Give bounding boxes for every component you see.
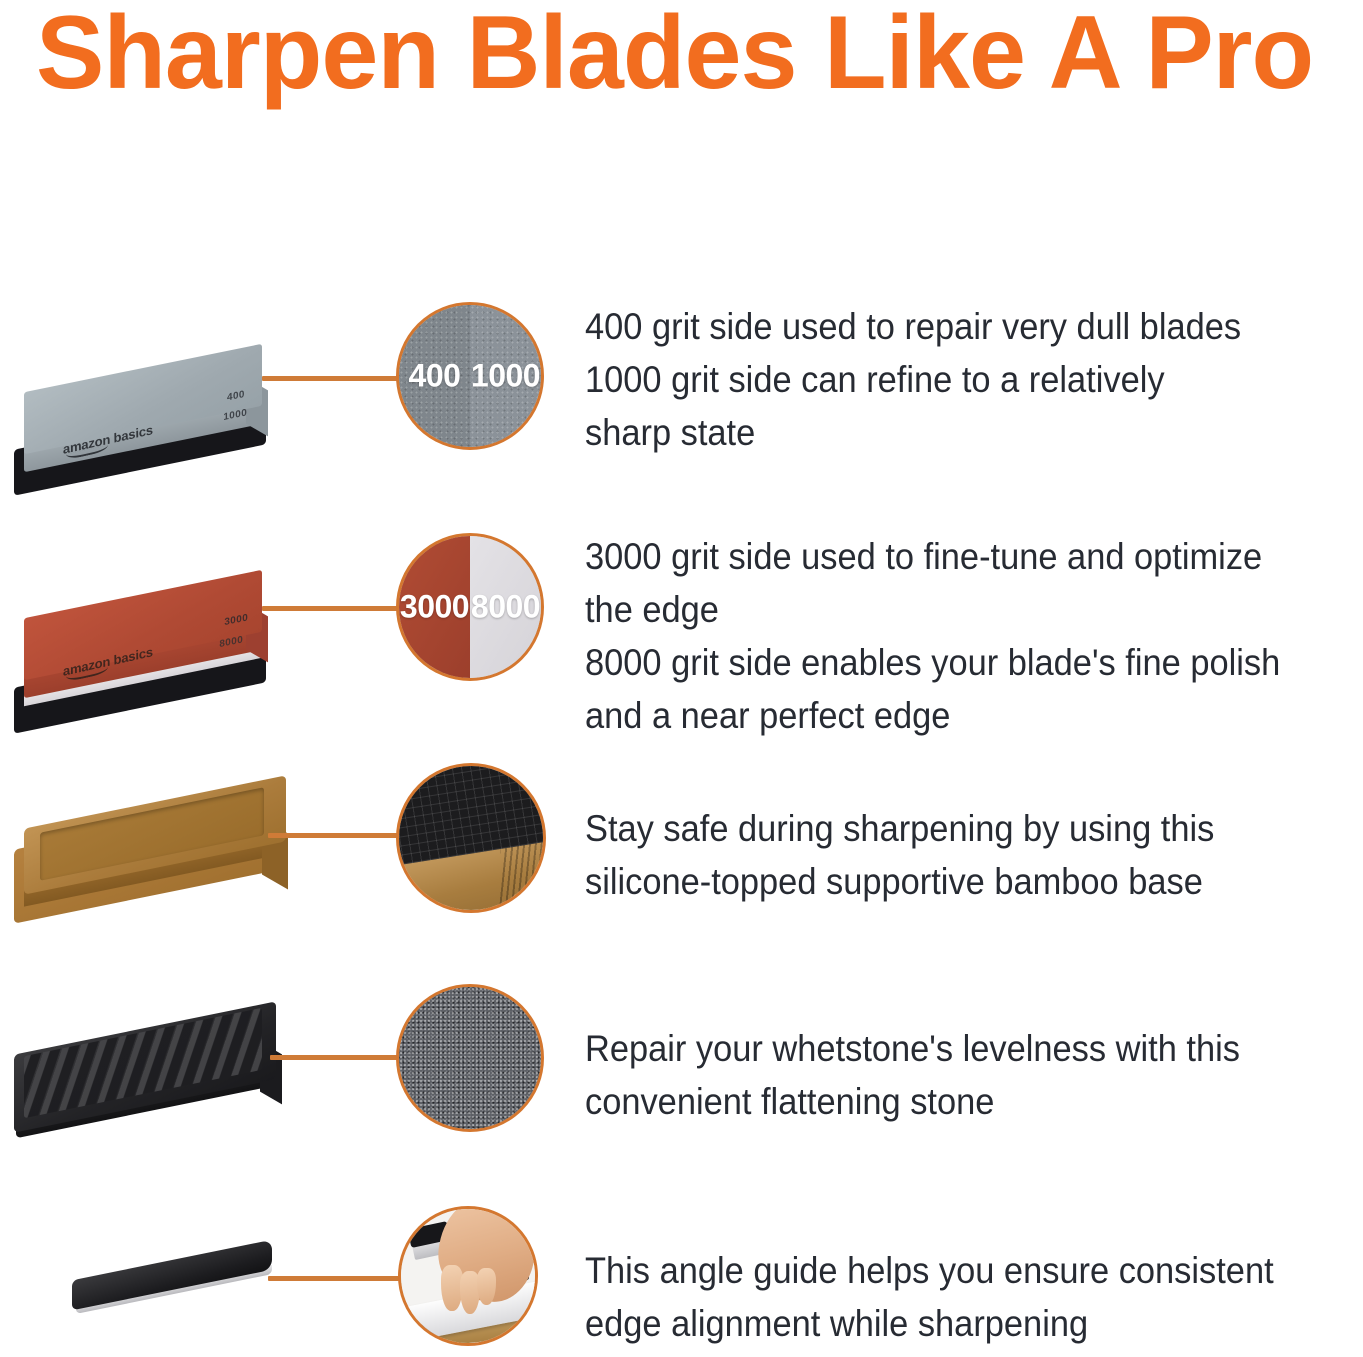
- feature-text-angle-guide: This angle guide helps you ensure consis…: [585, 1244, 1274, 1350]
- feature-line: sharp state: [585, 406, 1241, 459]
- callout-label-8000: 8000: [470, 589, 541, 626]
- connector-line-5: [268, 1276, 400, 1281]
- grit-surface-1000: 1000: [470, 305, 541, 447]
- product-image-whetstone-3000-8000: 3000 8000 amazon basics: [8, 588, 288, 718]
- callout-circle-grit-400-1000: 400 1000: [396, 302, 544, 450]
- grit-surface-3000: 3000: [399, 536, 470, 678]
- grit-surface-400: 400: [399, 305, 470, 447]
- feature-line: and a near perfect edge: [585, 689, 1280, 742]
- feature-line: 1000 grit side can refine to a relativel…: [585, 353, 1241, 406]
- grit-split-view: 3000 8000: [399, 536, 541, 678]
- feature-line: 8000 grit side enables your blade's fine…: [585, 636, 1280, 689]
- feature-row-combo-stone-400-1000: 400 1000 amazon basics 400 1000 400 g: [0, 290, 1363, 490]
- product-image-bamboo-base: [14, 796, 304, 916]
- connector-line-3: [268, 833, 400, 838]
- callout-label-3000: 3000: [399, 589, 470, 626]
- feature-text-combo-stone-400-1000: 400 grit side used to repair very dull b…: [585, 300, 1241, 459]
- feature-text-flattening-stone: Repair your whetstone's levelness with t…: [585, 1022, 1240, 1128]
- feature-line: 3000 grit side used to fine-tune and opt…: [585, 530, 1280, 583]
- angle-guide-body: [72, 1240, 272, 1311]
- feature-row-bamboo-base: Stay safe during sharpening by using thi…: [0, 760, 1363, 950]
- feature-text-combo-stone-3000-8000: 3000 grit side used to fine-tune and opt…: [585, 530, 1280, 742]
- callout-circle-grit-3000-8000: 3000 8000: [396, 533, 544, 681]
- feature-line: Repair your whetstone's levelness with t…: [585, 1022, 1240, 1075]
- coarse-grit-texture: [399, 987, 541, 1129]
- callout-circle-silicone-top: [396, 763, 546, 913]
- callout-circle-angle-guide-in-use: [398, 1206, 538, 1346]
- feature-text-bamboo-base: Stay safe during sharpening by using thi…: [585, 802, 1214, 908]
- feature-line: Stay safe during sharpening by using thi…: [585, 802, 1214, 855]
- feature-line: silicone-topped supportive bamboo base: [585, 855, 1214, 908]
- feature-line: edge alignment while sharpening: [585, 1297, 1274, 1350]
- product-image-flattening-stone: [8, 1008, 298, 1138]
- connector-line-1: [262, 376, 400, 381]
- callout-label-400: 400: [399, 358, 470, 395]
- feature-row-angle-guide: This angle guide helps you ensure consis…: [0, 1200, 1363, 1357]
- grit-split-view: 400 1000: [399, 305, 541, 447]
- connector-line-4: [270, 1055, 400, 1060]
- grit-surface-8000: 8000: [470, 536, 541, 678]
- feature-line: 400 grit side used to repair very dull b…: [585, 300, 1241, 353]
- connector-line-2: [262, 606, 400, 611]
- feature-line: This angle guide helps you ensure consis…: [585, 1244, 1274, 1297]
- callout-circle-flattening-grit: [396, 984, 544, 1132]
- infographic-page: Sharpen Blades Like A Pro 400 1000 amazo…: [0, 0, 1363, 1357]
- feature-row-flattening-stone: Repair your whetstone's levelness with t…: [0, 980, 1363, 1180]
- callout-label-1000: 1000: [470, 358, 541, 395]
- feature-line: convenient flattening stone: [585, 1075, 1240, 1128]
- product-image-whetstone-400-1000: 400 1000 amazon basics: [8, 362, 288, 482]
- feature-row-combo-stone-3000-8000: 3000 8000 amazon basics 3000 8000 3000 g…: [0, 520, 1363, 735]
- angle-guide-usage-scene: [401, 1209, 535, 1343]
- product-image-angle-guide: [72, 1252, 282, 1312]
- page-title: Sharpen Blades Like A Pro: [36, 0, 1336, 108]
- feature-line: the edge: [585, 583, 1280, 636]
